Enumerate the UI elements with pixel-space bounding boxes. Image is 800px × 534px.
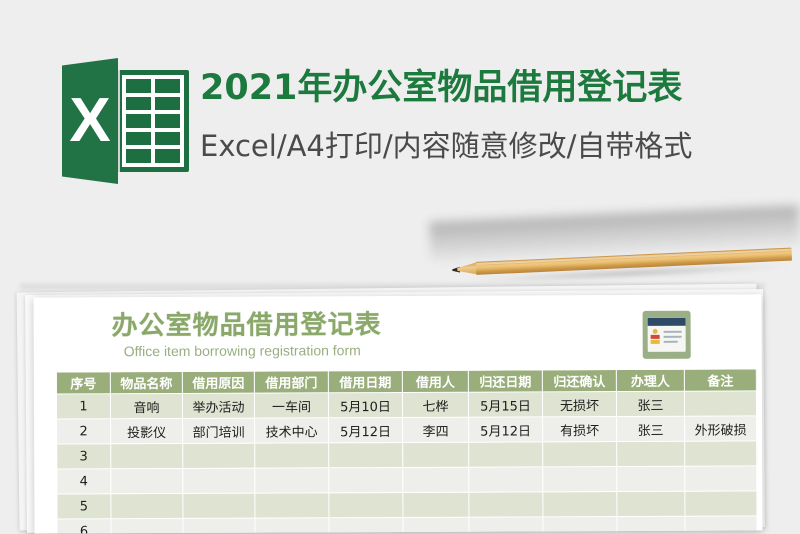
table-cell[interactable] — [469, 492, 543, 517]
table-column-header: 物品名称 — [110, 371, 182, 393]
table-cell[interactable] — [685, 491, 757, 516]
paper-stack: 办公室物品借用登记表 Office item borrowing registr… — [0, 286, 800, 526]
table-cell[interactable]: 李四 — [403, 417, 469, 442]
id-card-header-bar — [648, 318, 686, 326]
table-column-header: 办理人 — [616, 369, 684, 391]
table-row[interactable]: 1音响举办活动一车间5月10日七桦5月15日无损坏张三 — [56, 391, 756, 419]
table-cell[interactable] — [543, 517, 617, 534]
table-row[interactable]: 3 — [57, 441, 757, 469]
table-cell[interactable]: 有损坏 — [543, 417, 617, 442]
table-cell[interactable] — [255, 468, 329, 493]
table-cell[interactable] — [543, 442, 617, 467]
table-column-header: 备注 — [684, 369, 756, 391]
excel-logo-x-letter: X — [62, 58, 118, 184]
promo-subtitle: Excel/A4打印/内容随意修改/自带格式 — [200, 126, 780, 166]
table-cell[interactable] — [469, 517, 543, 534]
table-cell[interactable] — [183, 468, 255, 493]
table-cell[interactable]: 技术中心 — [255, 418, 329, 443]
id-card-person-head — [653, 329, 658, 334]
table-header-row: 序号物品名称借用原因借用部门借用日期借用人归还日期归还确认办理人备注 — [56, 369, 756, 394]
table-cell[interactable] — [684, 391, 756, 416]
borrowing-registration-table: 序号物品名称借用原因借用部门借用日期借用人归还日期归还确认办理人备注 1音响举办… — [56, 368, 758, 533]
table-row[interactable]: 2投影仪部门培训技术中心5月12日李四5月12日有损坏张三外形破损 — [57, 416, 757, 444]
id-card-icon — [643, 311, 691, 359]
table-cell[interactable] — [329, 442, 403, 467]
table-cell[interactable] — [617, 441, 685, 466]
table-cell[interactable]: 张三 — [617, 416, 685, 441]
table-column-header: 借用日期 — [328, 370, 402, 392]
table-column-header: 借用部门 — [254, 371, 328, 393]
table-column-header: 借用原因 — [182, 371, 254, 393]
table-cell[interactable]: 4 — [57, 469, 111, 494]
table-cell[interactable] — [617, 491, 685, 516]
spreadsheet-page: 办公室物品借用登记表 Office item borrowing registr… — [33, 294, 762, 533]
table-cell[interactable]: 1 — [56, 394, 110, 419]
table-cell[interactable]: 6 — [57, 519, 111, 534]
promo-title: 2021年办公室物品借用登记表 — [200, 66, 780, 110]
table-cell[interactable]: 投影仪 — [111, 418, 183, 443]
excel-logo: X — [62, 58, 190, 184]
table-cell[interactable] — [543, 467, 617, 492]
sheet-title: 办公室物品借用登记表 — [112, 304, 382, 342]
table-body: 1音响举办活动一车间5月10日七桦5月15日无损坏张三2投影仪部门培训技术中心5… — [56, 391, 757, 534]
sheet-subtitle: Office item borrowing registration form — [124, 342, 361, 359]
table-cell[interactable] — [617, 466, 685, 491]
table-cell[interactable] — [403, 517, 469, 533]
table-cell[interactable]: 3 — [57, 444, 111, 469]
table-cell[interactable] — [111, 493, 183, 518]
id-card-text-line — [664, 336, 682, 338]
table-cell[interactable]: 5月12日 — [329, 417, 403, 442]
table-row[interactable]: 5 — [57, 491, 757, 519]
table-cell[interactable]: 2 — [57, 419, 111, 444]
table-cell[interactable]: 5月15日 — [468, 392, 542, 417]
table-column-header: 归还日期 — [468, 370, 542, 392]
promo-text-block: 2021年办公室物品借用登记表 Excel/A4打印/内容随意修改/自带格式 — [200, 66, 780, 166]
table-cell[interactable]: 一车间 — [254, 393, 328, 418]
table-cell[interactable]: 部门培训 — [183, 418, 255, 443]
excel-logo-grid — [122, 75, 184, 167]
table-cell[interactable] — [403, 492, 469, 517]
table-cell[interactable] — [685, 441, 757, 466]
id-card-person-base — [651, 340, 660, 344]
table-cell[interactable]: 举办活动 — [182, 393, 254, 418]
table-cell[interactable] — [469, 467, 543, 492]
id-card-body — [648, 318, 686, 352]
table-row[interactable]: 4 — [57, 466, 757, 494]
table-cell[interactable] — [543, 492, 617, 517]
table-row[interactable]: 6 — [57, 516, 757, 534]
table-cell[interactable]: 无损坏 — [542, 392, 616, 417]
table-cell[interactable]: 音响 — [110, 393, 182, 418]
table-cell[interactable]: 外形破损 — [685, 416, 757, 441]
table-column-header: 借用人 — [402, 370, 468, 392]
table-cell[interactable] — [183, 493, 255, 518]
table-cell[interactable] — [255, 443, 329, 468]
table-cell[interactable] — [685, 466, 757, 491]
table-cell[interactable] — [255, 493, 329, 518]
table-cell[interactable] — [329, 492, 403, 517]
table-cell[interactable]: 5月12日 — [469, 417, 543, 442]
table-cell[interactable] — [111, 443, 183, 468]
table-cell[interactable]: 七桦 — [402, 392, 468, 417]
table-cell[interactable] — [111, 468, 183, 493]
table-cell[interactable] — [183, 443, 255, 468]
table-cell[interactable] — [469, 442, 543, 467]
id-card-text-line — [664, 331, 682, 333]
table-cell[interactable] — [111, 518, 183, 533]
table-column-header: 序号 — [56, 372, 110, 394]
id-card-text-line — [664, 341, 678, 343]
table-column-header: 归还确认 — [542, 370, 616, 392]
table-cell[interactable] — [403, 467, 469, 492]
id-card-person-torso — [651, 335, 660, 339]
table-cell[interactable]: 5 — [57, 494, 111, 519]
table-cell[interactable] — [403, 442, 469, 467]
table-cell[interactable]: 张三 — [616, 391, 684, 416]
table-cell[interactable] — [617, 516, 685, 533]
table-cell[interactable]: 5月10日 — [328, 392, 402, 417]
promo-banner: X 2021年办公室物品借用登记表 Excel/A4打印/内容随意修改/自带格式 — [0, 0, 800, 230]
table-cell[interactable] — [329, 467, 403, 492]
table-cell[interactable] — [685, 516, 757, 534]
